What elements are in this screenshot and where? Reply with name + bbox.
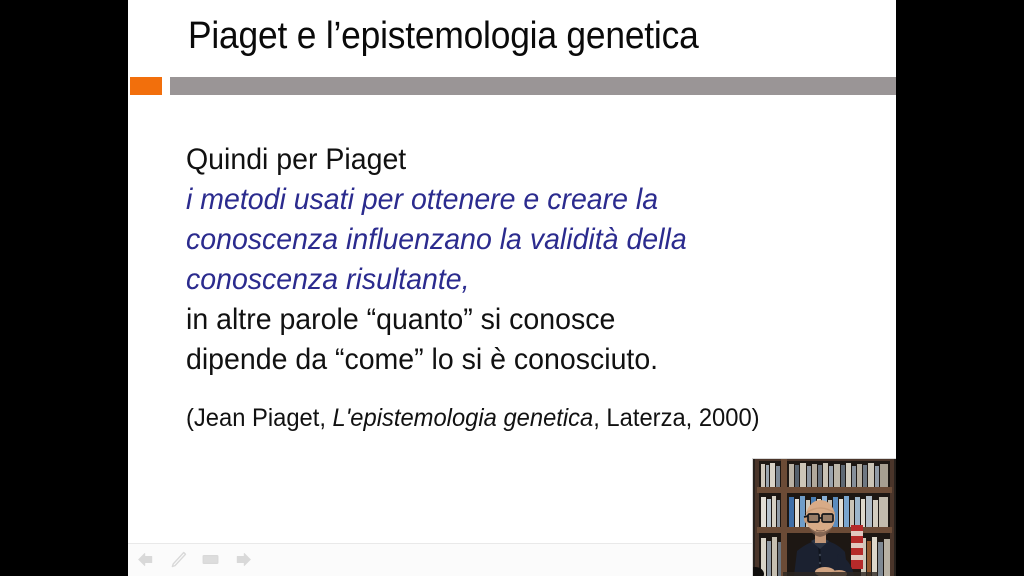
page-title: Piaget e l’epistemologia genetica bbox=[188, 13, 839, 59]
presenter-webcam-feed[interactable] bbox=[753, 459, 896, 576]
slide-body: Quindi per Piaget i metodi usati per ott… bbox=[186, 140, 886, 380]
pen-annotate-icon[interactable] bbox=[168, 549, 189, 570]
letterbox-left bbox=[0, 0, 128, 576]
body-line-2: i metodi usati per ottenere e creare la bbox=[186, 180, 851, 220]
slide-canvas: Piaget e l’epistemologia genetica Quindi… bbox=[128, 0, 896, 576]
citation-prefix: (Jean Piaget, bbox=[186, 404, 333, 432]
accent-block bbox=[130, 77, 162, 95]
source-citation: (Jean Piaget, L'epistemologia genetica, … bbox=[186, 402, 760, 434]
letterbox-right bbox=[896, 0, 1024, 576]
previous-slide-icon[interactable] bbox=[136, 549, 157, 570]
title-divider bbox=[128, 77, 896, 95]
body-line-3: conoscenza influenzano la validità della bbox=[186, 220, 851, 260]
citation-work: L'epistemologia genetica bbox=[333, 404, 594, 432]
presentation-screen: Piaget e l’epistemologia genetica Quindi… bbox=[0, 0, 1024, 576]
citation-suffix: , Laterza, 2000) bbox=[593, 404, 759, 432]
body-line-4: conoscenza risultante, bbox=[186, 260, 851, 300]
divider-bar bbox=[170, 77, 896, 95]
navigation-controls bbox=[136, 549, 253, 570]
body-line-5: in altre parole “quanto” si conosce bbox=[186, 300, 851, 340]
body-line-1: Quindi per Piaget bbox=[186, 140, 851, 180]
next-slide-icon[interactable] bbox=[232, 549, 253, 570]
screen-display-icon[interactable] bbox=[200, 549, 221, 570]
body-line-6: dipende da “come” lo si è conosciuto. bbox=[186, 340, 851, 380]
